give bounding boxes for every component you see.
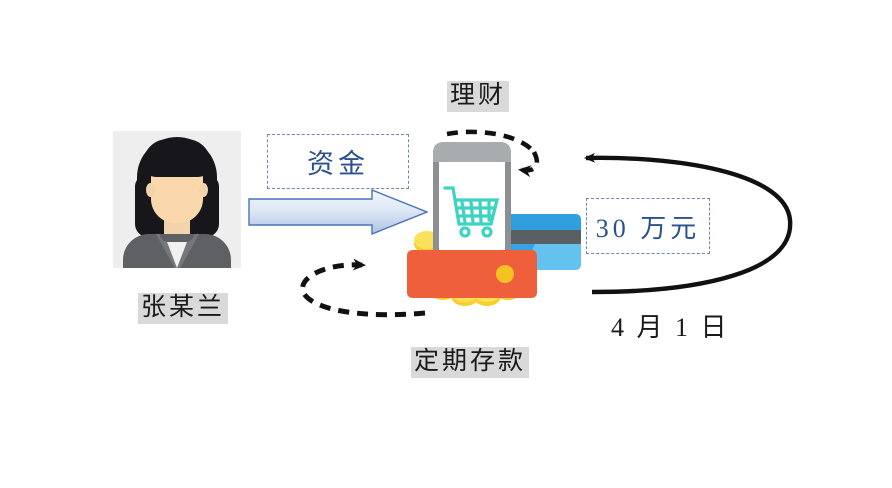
amount-label-text: 30 万元 (596, 208, 701, 245)
avatar-ear-left-icon (146, 183, 155, 197)
finance-illustration (405, 140, 585, 315)
wealth-management-label: 理财 (447, 81, 509, 112)
avatar (113, 131, 241, 268)
block-arrow-shape (249, 190, 427, 234)
amount-label-box: 30 万元 (586, 198, 710, 254)
avatar-ear-right-icon (199, 183, 208, 197)
wallet-button-icon (496, 265, 514, 283)
date-label: 4 月 1 日 (611, 307, 730, 344)
diagram-canvas: 张某兰 资金 理财 (0, 0, 892, 488)
fixed-deposit-label: 定期存款 (411, 347, 529, 378)
funds-label-box: 资金 (267, 134, 409, 189)
funds-label-text: 资金 (307, 142, 369, 181)
avatar-fringe-icon (143, 139, 211, 177)
avatar-collar-icon (160, 234, 194, 242)
person-name-label: 张某兰 (138, 293, 228, 324)
wallet-icon (407, 250, 537, 298)
funds-block-arrow (248, 189, 428, 235)
